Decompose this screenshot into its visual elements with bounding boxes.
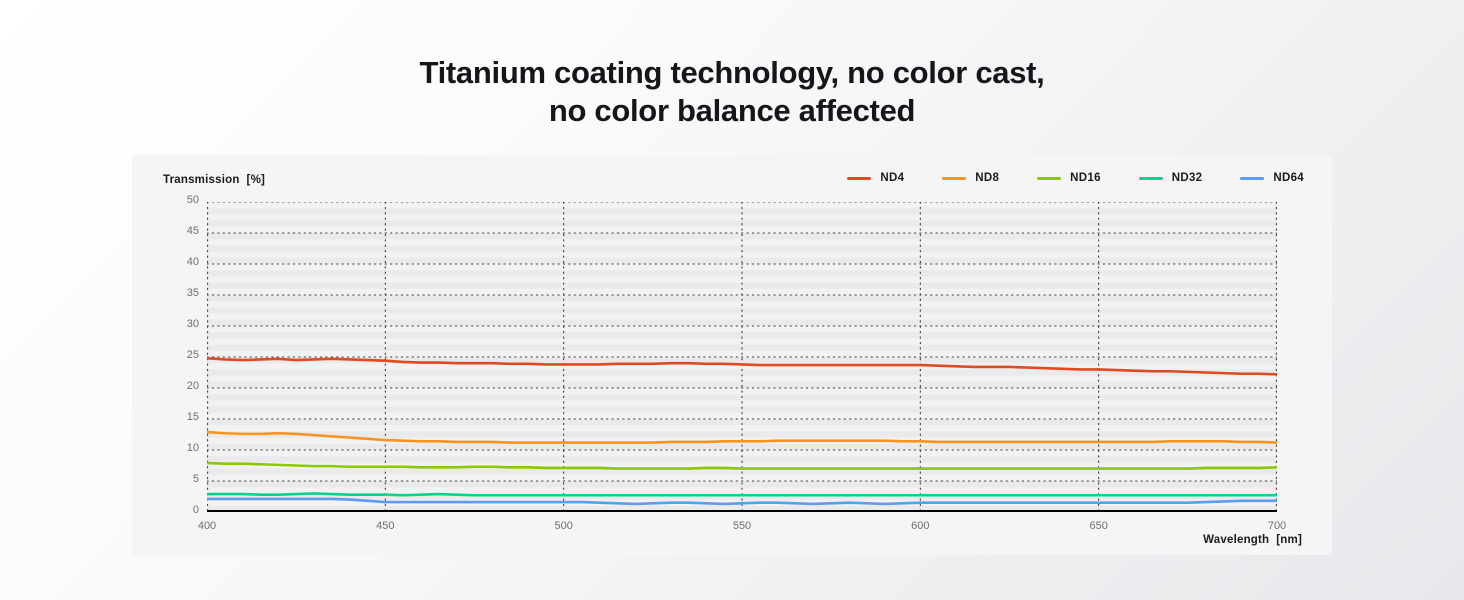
y-axis-tick-label: 15 [159,411,199,423]
y-axis-tick-label: 45 [159,225,199,237]
y-axis-tick-label: 10 [159,442,199,454]
legend-swatch-icon [847,177,871,180]
y-axis-tick-label: 35 [159,287,199,299]
x-axis-tick-label: 450 [376,520,394,532]
chart-svg [207,202,1277,512]
x-axis-tick-label: 550 [733,520,751,532]
legend-label: ND32 [1172,172,1203,184]
x-axis-tick-label: 600 [911,520,929,532]
y-axis-title: Transmission[%] [163,174,265,186]
legend-item-nd16[interactable]: ND16 [1037,172,1101,184]
plot-area: 0510152025303540455040045050055060065070… [207,202,1277,512]
legend-label: ND4 [880,172,904,184]
legend-swatch-icon [1037,177,1061,180]
x-axis-tick-label: 400 [198,520,216,532]
x-axis-tick-label: 700 [1268,520,1286,532]
legend-item-nd64[interactable]: ND64 [1240,172,1304,184]
legend-swatch-icon [1139,177,1163,180]
legend-swatch-icon [942,177,966,180]
legend-label: ND8 [975,172,999,184]
x-axis-title-unit: [nm] [1276,534,1302,546]
y-axis-tick-label: 40 [159,256,199,268]
x-axis-tick-label: 500 [554,520,572,532]
y-axis-title-name: Transmission [163,174,240,186]
y-axis-tick-label: 30 [159,318,199,330]
title-line-2: no color balance affected [0,92,1464,130]
x-axis-title-name: Wavelength [1203,534,1269,546]
x-axis-tick-label: 650 [1089,520,1107,532]
legend-item-nd32[interactable]: ND32 [1139,172,1203,184]
legend-label: ND16 [1070,172,1101,184]
chart-panel: Transmission[%] Wavelength[nm] ND4ND8ND1… [132,155,1332,555]
legend-item-nd4[interactable]: ND4 [847,172,904,184]
x-axis-title: Wavelength[nm] [1203,534,1302,546]
y-axis-tick-label: 50 [159,194,199,206]
chart-legend: ND4ND8ND16ND32ND64 [847,172,1304,184]
page-title: Titanium coating technology, no color ca… [0,54,1464,130]
legend-swatch-icon [1240,177,1264,180]
y-axis-title-unit: [%] [247,174,266,186]
legend-item-nd8[interactable]: ND8 [942,172,999,184]
legend-label: ND64 [1273,172,1304,184]
title-line-1: Titanium coating technology, no color ca… [0,54,1464,92]
y-axis-tick-label: 0 [159,504,199,516]
y-axis-tick-label: 20 [159,380,199,392]
y-axis-tick-label: 5 [159,473,199,485]
y-axis-tick-label: 25 [159,349,199,361]
